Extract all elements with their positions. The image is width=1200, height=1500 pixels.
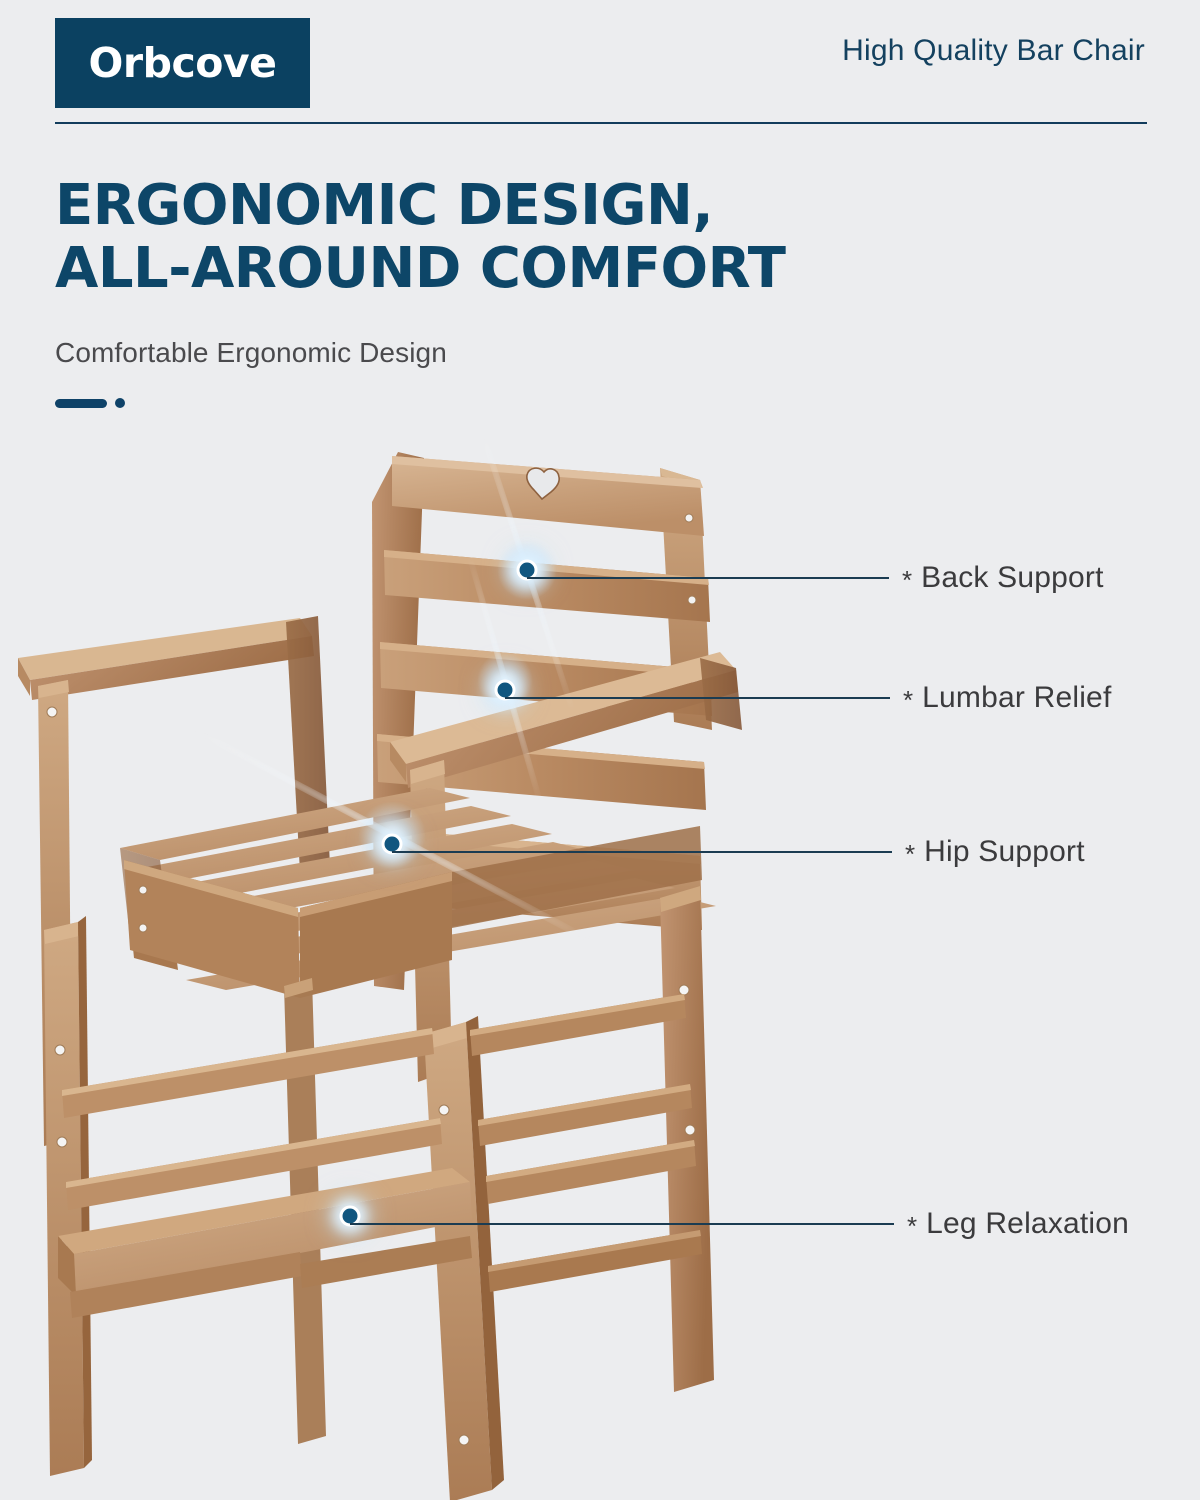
callout-back-support: * Back Support — [527, 561, 1104, 595]
accent-bar — [55, 399, 107, 408]
leg-rear-right — [660, 886, 714, 1392]
brand-logo: Orbcove — [55, 18, 310, 108]
callout-label: Lumbar Relief — [922, 681, 1111, 715]
page-title: ERGONOMIC DESIGN, ALL-AROUND COMFORT — [55, 175, 1055, 300]
callout-label: Leg Relaxation — [926, 1207, 1129, 1241]
asterisk-icon: * — [902, 567, 912, 593]
callout-hip-support: * Hip Support — [392, 835, 1085, 869]
page-root: Orbcove High Quality Bar Chair ERGONOMIC… — [0, 0, 1200, 1500]
header-title: High Quality Bar Chair — [842, 34, 1145, 68]
asterisk-icon: * — [905, 841, 915, 867]
accent-divider — [55, 398, 1055, 408]
page-subtitle: Comfortable Ergonomic Design — [55, 337, 1055, 369]
hero-text-block: ERGONOMIC DESIGN, ALL-AROUND COMFORT Com… — [55, 175, 1055, 408]
asterisk-icon: * — [903, 687, 913, 713]
brand-logo-text: Orbcove — [89, 43, 277, 84]
asterisk-icon: * — [907, 1213, 917, 1239]
header-divider — [55, 122, 1147, 124]
callout-label: Hip Support — [924, 835, 1085, 869]
page-header: Orbcove High Quality Bar Chair — [0, 0, 1200, 130]
callout-label: Back Support — [921, 561, 1104, 595]
callout-leg-relaxation: * Leg Relaxation — [350, 1207, 1129, 1241]
accent-dot — [115, 398, 125, 408]
callout-leader-line — [505, 697, 890, 699]
callout-leader-line — [527, 577, 889, 579]
callout-lumbar-relief: * Lumbar Relief — [505, 681, 1111, 715]
callout-leader-line — [350, 1223, 894, 1225]
callout-leader-line — [392, 851, 892, 853]
